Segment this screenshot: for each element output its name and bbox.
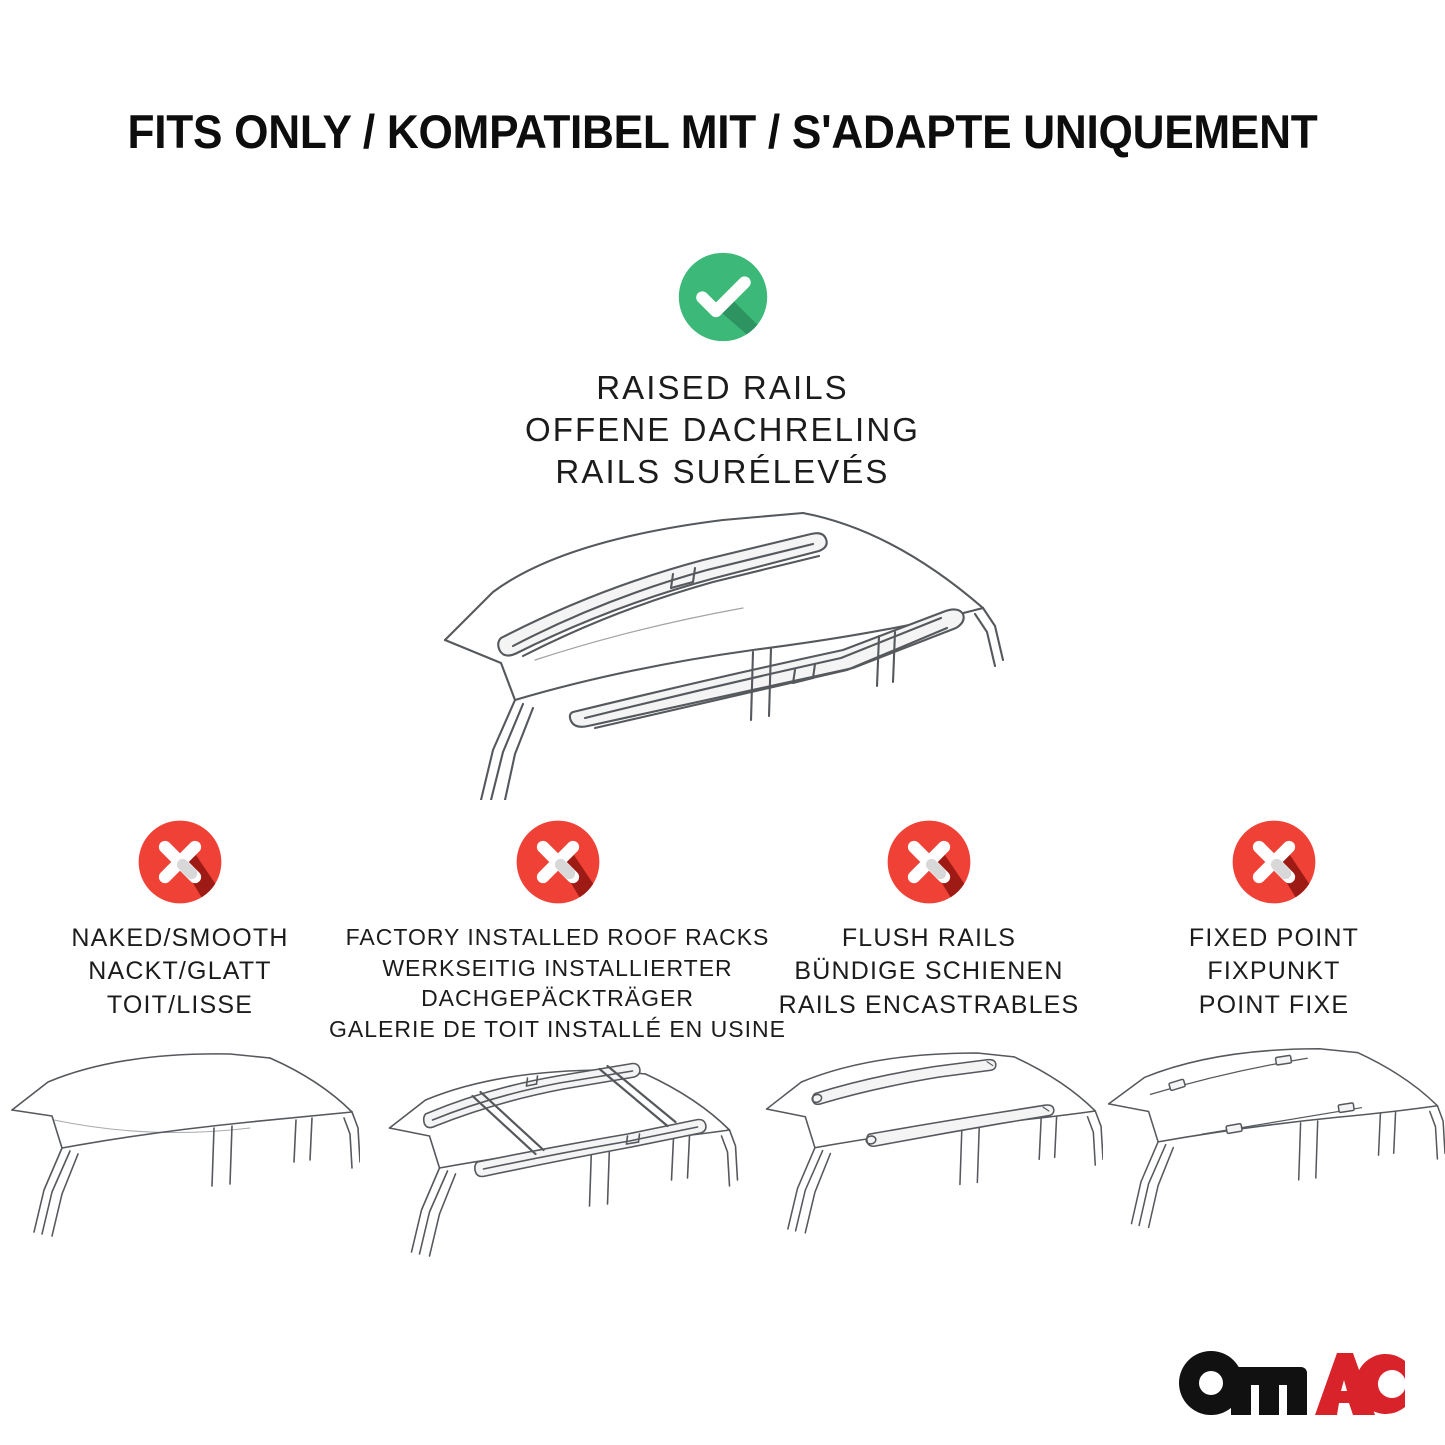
incompatible-section: NAKED/SMOOTH NACKT/GLATT TOIT/LISSE xyxy=(0,818,1445,1269)
omac-logo xyxy=(1175,1347,1407,1419)
compatibility-infographic: FITS ONLY / KOMPATIBEL MIT / S'ADAPTE UN… xyxy=(0,0,1445,1445)
option-label-de: BÜNDIGE SCHIENEN xyxy=(779,955,1080,988)
compatible-section: RAISED RAILS OFFENE DACHRELING RAILS SUR… xyxy=(0,250,1445,494)
cross-circle-icon xyxy=(514,818,602,906)
incompatible-option-flush-rails: FLUSH RAILS BÜNDIGE SCHIENEN RAILS ENCAS… xyxy=(755,818,1103,1247)
option-label-en: NAKED/SMOOTH xyxy=(71,922,288,955)
option-label-en: FLUSH RAILS xyxy=(779,922,1080,955)
incompatible-option-fixed-point: FIXED POINT FIXPUNKT POINT FIXE xyxy=(1103,818,1445,1247)
check-circle-icon xyxy=(676,250,770,344)
option-label-en: FIXED POINT xyxy=(1189,922,1359,955)
page-title: FITS ONLY / KOMPATIBEL MIT / S'ADAPTE UN… xyxy=(43,104,1401,159)
car-roof-with-fixed-points-illustration xyxy=(1103,1032,1445,1247)
car-roof-with-factory-crossbars-illustration xyxy=(360,1054,755,1269)
option-label-fr: GALERIE DE TOIT INSTALLÉ EN USINE xyxy=(329,1014,786,1045)
cross-circle-icon xyxy=(136,818,224,906)
option-label-de-1: WERKSEITIG INSTALLIERTER xyxy=(329,953,786,984)
option-label-de: FIXPUNKT xyxy=(1189,955,1359,988)
option-labels: FLUSH RAILS BÜNDIGE SCHIENEN RAILS ENCAS… xyxy=(779,922,1080,1022)
option-label-de-2: DACHGEPÄCKTRÄGER xyxy=(329,983,786,1014)
option-label-en: FACTORY INSTALLED ROOF RACKS xyxy=(329,922,786,953)
option-labels: FACTORY INSTALLED ROOF RACKS WERKSEITIG … xyxy=(329,922,786,1044)
option-label-de: NACKT/GLATT xyxy=(71,955,288,988)
cross-circle-icon xyxy=(885,818,973,906)
compatible-labels: RAISED RAILS OFFENE DACHRELING RAILS SUR… xyxy=(525,367,920,494)
option-labels: FIXED POINT FIXPUNKT POINT FIXE xyxy=(1189,922,1359,1022)
compatible-label-de: OFFENE DACHRELING xyxy=(525,409,920,451)
car-roof-with-raised-rails-illustration xyxy=(423,500,1023,800)
car-roof-bare-smooth-illustration xyxy=(0,1032,360,1247)
cross-circle-icon xyxy=(1230,818,1318,906)
incompatible-option-naked-smooth: NAKED/SMOOTH NACKT/GLATT TOIT/LISSE xyxy=(0,818,360,1247)
option-label-fr: POINT FIXE xyxy=(1189,989,1359,1022)
compatible-label-fr: RAILS SURÉLEVÉS xyxy=(525,451,920,493)
car-roof-with-flush-rails-illustration xyxy=(755,1032,1103,1247)
incompatible-option-factory-roof-racks: FACTORY INSTALLED ROOF RACKS WERKSEITIG … xyxy=(360,818,755,1269)
compatible-label-en: RAISED RAILS xyxy=(525,367,920,409)
option-label-fr: TOIT/LISSE xyxy=(71,989,288,1022)
option-labels: NAKED/SMOOTH NACKT/GLATT TOIT/LISSE xyxy=(71,922,288,1022)
option-label-fr: RAILS ENCASTRABLES xyxy=(779,989,1080,1022)
